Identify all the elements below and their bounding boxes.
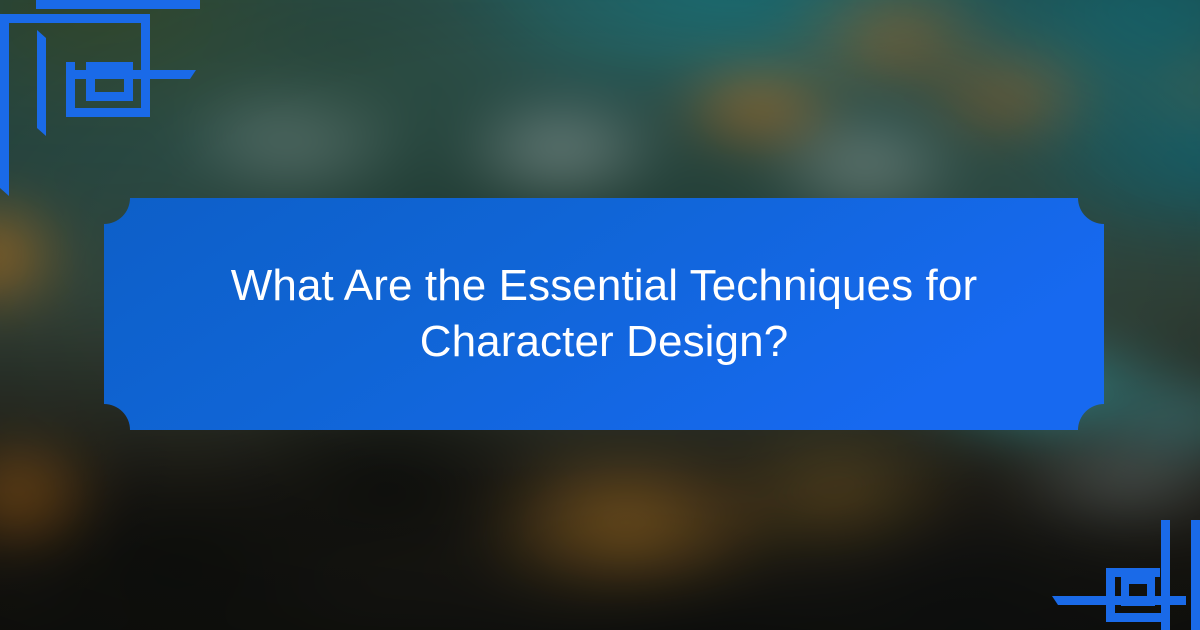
banner-canvas: What Are the Essential Techniques for Ch… xyxy=(0,0,1200,630)
page-title: What Are the Essential Techniques for Ch… xyxy=(104,198,1104,430)
